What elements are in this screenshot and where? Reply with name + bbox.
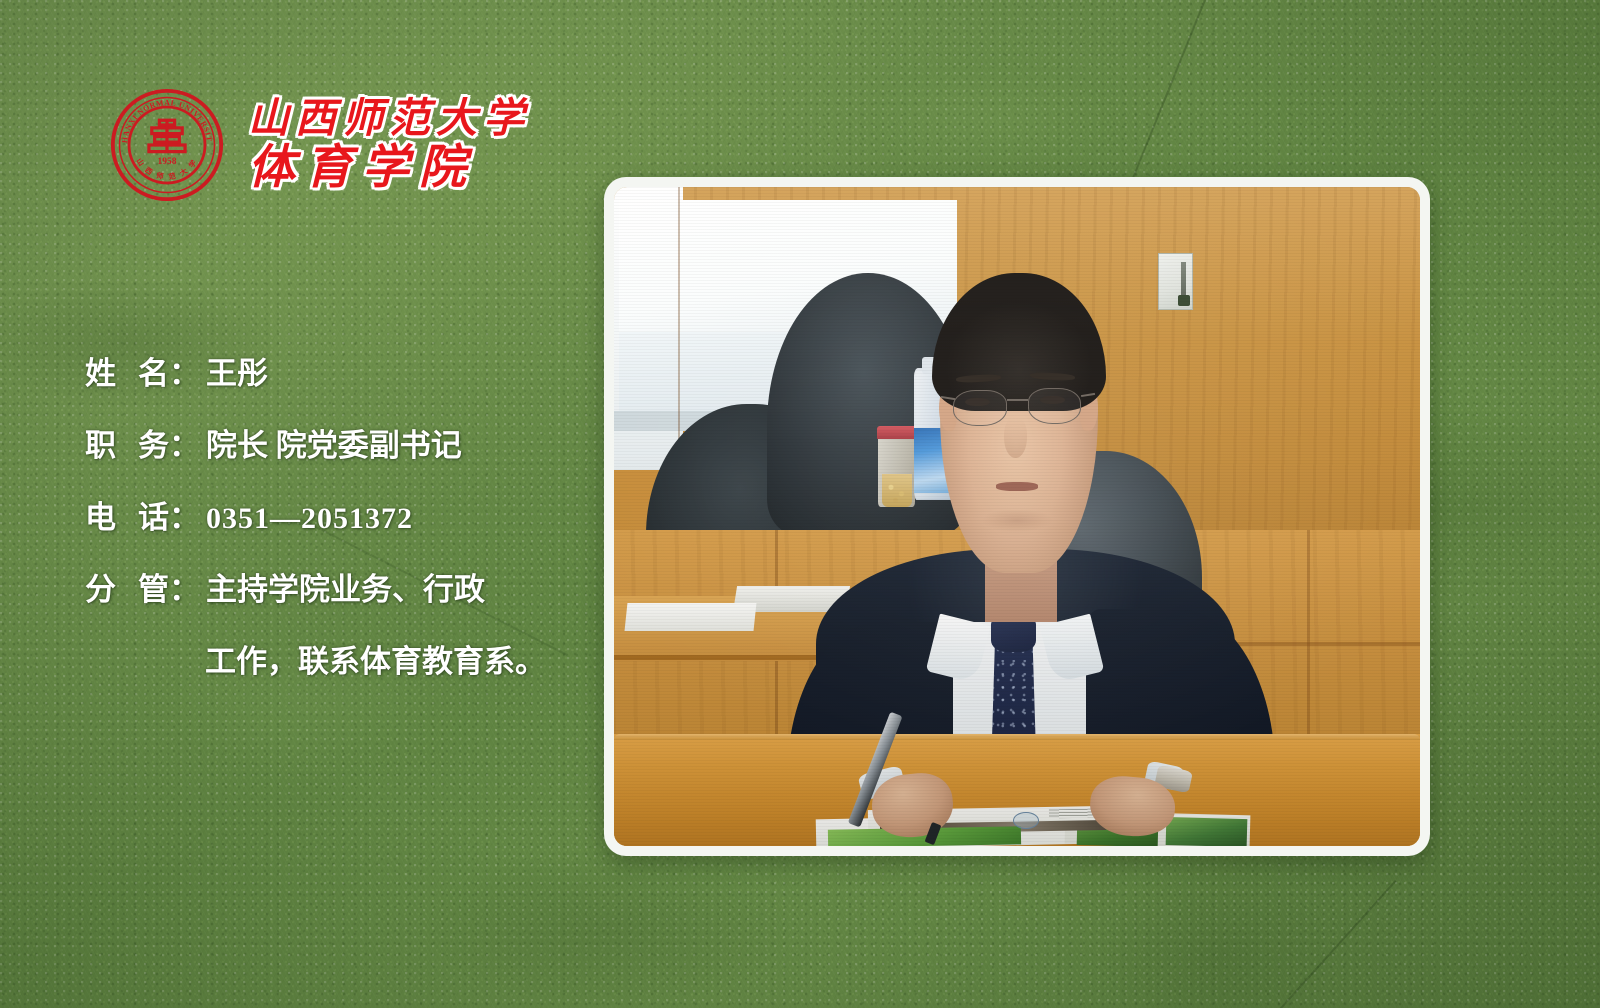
profile-row-position: 职务： 院长 院党委副书记 — [85, 420, 585, 492]
profile-label-position: 职务： — [85, 420, 200, 465]
university-seal-icon: SHANXI NORMAL UNIVERSITY 山 西 师 范 大 学 195… — [110, 88, 224, 202]
eyeglasses-lens-left — [953, 390, 1006, 426]
wall-switch-slot — [1181, 262, 1186, 299]
wall-switch-indicator — [1178, 295, 1190, 306]
profile-card-slide: SHANXI NORMAL UNIVERSITY 山 西 师 范 大 学 195… — [0, 0, 1600, 1008]
profile-value-name: 王彤 — [206, 348, 268, 393]
profile-row-name: 姓名： 王彤 — [85, 348, 585, 420]
eyeglasses-lens-right — [1028, 388, 1081, 424]
profile-row-duties-cont: 工作，联系体育教育系。 — [85, 636, 585, 708]
profile-value-position: 院长 院党委副书记 — [206, 420, 462, 465]
portrait-photo-frame: SKK — [604, 177, 1430, 856]
profile-value-duties-cont: 工作，联系体育教育系。 — [205, 636, 546, 681]
front-desk-edge — [614, 734, 1420, 740]
back-desk-paper — [625, 603, 757, 631]
credenza-seam — [1307, 530, 1310, 741]
profile-label-duties: 分管： — [85, 564, 200, 609]
brochure-seal-icon — [1013, 812, 1039, 829]
profile-label-phone: 电话： — [85, 492, 200, 537]
necktie-knot — [991, 617, 1036, 651]
brand-header: SHANXI NORMAL UNIVERSITY 山 西 师 范 大 学 195… — [110, 88, 530, 202]
nose — [1004, 418, 1027, 459]
svg-text:1958: 1958 — [158, 157, 177, 167]
chin-shadow — [977, 510, 1058, 536]
profile-value-duties: 主持学院业务、行政 — [206, 564, 485, 609]
jar-contents — [882, 474, 913, 507]
school-title-line-2: 体育学院 — [248, 144, 530, 193]
eyeglasses-bridge — [1007, 399, 1029, 401]
portrait-photo: SKK — [614, 187, 1420, 846]
profile-row-phone: 电话： 0351—2051372 — [85, 492, 585, 564]
jar-lid — [877, 426, 917, 440]
mouth — [996, 482, 1038, 491]
school-title-line-1: 山西师范大学 — [248, 97, 530, 140]
profile-info-list: 姓名： 王彤 职务： 院长 院党委副书记 电话： 0351—2051372 分管… — [85, 348, 585, 708]
profile-row-duties: 分管： 主持学院业务、行政 — [85, 564, 585, 636]
profile-value-phone: 0351—2051372 — [206, 502, 413, 536]
document-photo — [1166, 817, 1247, 846]
school-name-block: 山西师范大学 体育学院 — [248, 97, 530, 193]
profile-label-name: 姓名： — [85, 348, 200, 393]
